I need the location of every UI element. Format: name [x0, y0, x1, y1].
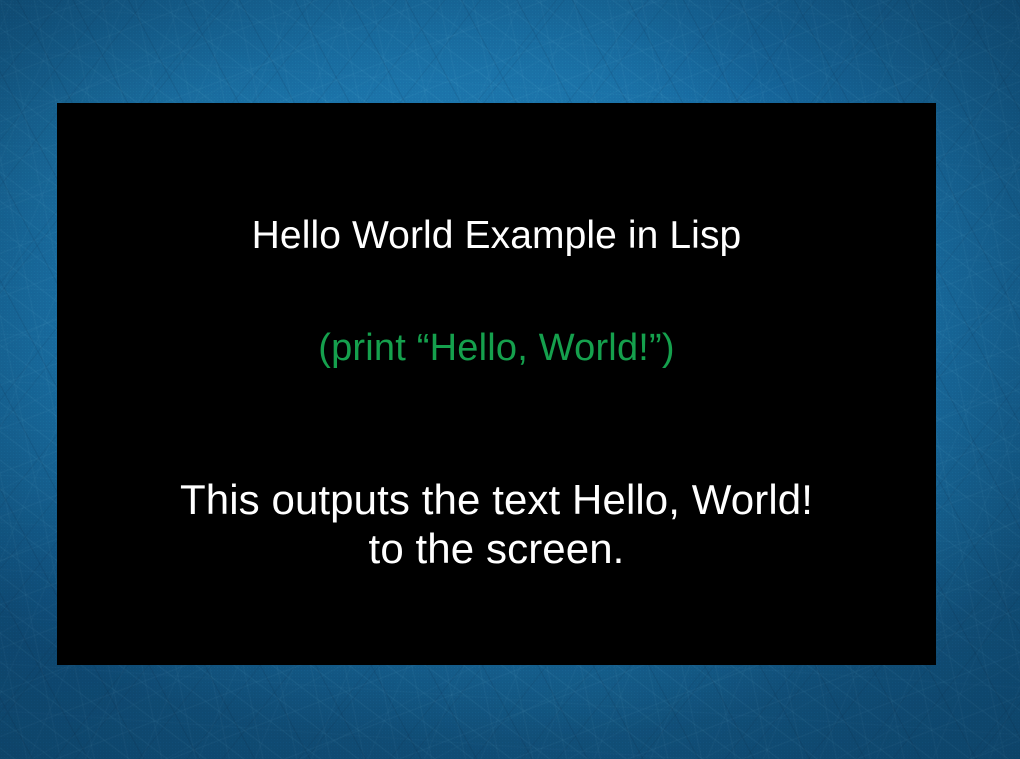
content-panel: Hello World Example in Lisp (print “Hell… — [57, 103, 936, 665]
explanation-text: This outputs the text Hello, World! to t… — [57, 475, 936, 573]
slide-root: Hello World Example in Lisp (print “Hell… — [0, 0, 1020, 759]
explanation-line-2: to the screen. — [57, 524, 936, 573]
code-snippet: (print “Hello, World!”) — [57, 328, 936, 370]
slide-title: Hello World Example in Lisp — [57, 215, 936, 258]
explanation-line-1: This outputs the text Hello, World! — [57, 475, 936, 524]
